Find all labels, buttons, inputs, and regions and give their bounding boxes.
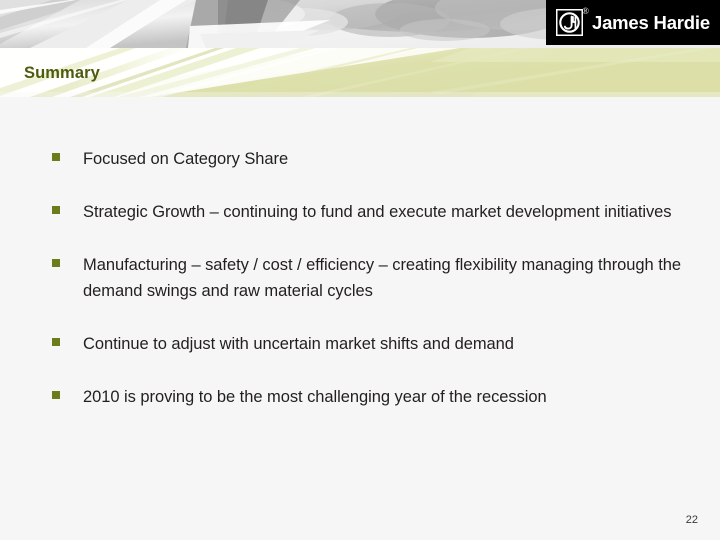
square-bullet-icon <box>52 259 60 267</box>
square-bullet-icon <box>52 153 60 161</box>
square-bullet-icon <box>52 206 60 214</box>
list-item: 2010 is proving to be the most challengi… <box>52 384 720 410</box>
list-item-text: Manufacturing – safety / cost / efficien… <box>83 252 720 304</box>
page-title: Summary <box>24 64 100 83</box>
list-item: Continue to adjust with uncertain market… <box>52 331 720 357</box>
list-item: Strategic Growth – continuing to fund an… <box>52 199 720 225</box>
bullet-list: Focused on Category Share Strategic Grow… <box>52 146 720 410</box>
square-bullet-icon <box>52 338 60 346</box>
jh-monogram-icon: ® <box>556 9 583 36</box>
page-number: 22 <box>686 514 698 526</box>
registered-trademark-icon: ® <box>582 7 589 16</box>
list-item-text: Strategic Growth – continuing to fund an… <box>83 199 720 225</box>
square-bullet-icon <box>52 391 60 399</box>
siding-panels <box>0 0 330 48</box>
presentation-slide: ® James Hardie Summary Focused on Catego… <box>0 0 720 540</box>
brand-name: James Hardie <box>592 12 710 34</box>
list-item-text: Focused on Category Share <box>83 146 720 172</box>
header-banner: ® James Hardie <box>0 0 720 97</box>
list-item-text: 2010 is proving to be the most challengi… <box>83 384 720 410</box>
list-item: Focused on Category Share <box>52 146 720 172</box>
list-item: Manufacturing – safety / cost / efficien… <box>52 252 720 304</box>
list-item-text: Continue to adjust with uncertain market… <box>83 331 720 357</box>
james-hardie-logo: ® James Hardie <box>546 0 720 45</box>
